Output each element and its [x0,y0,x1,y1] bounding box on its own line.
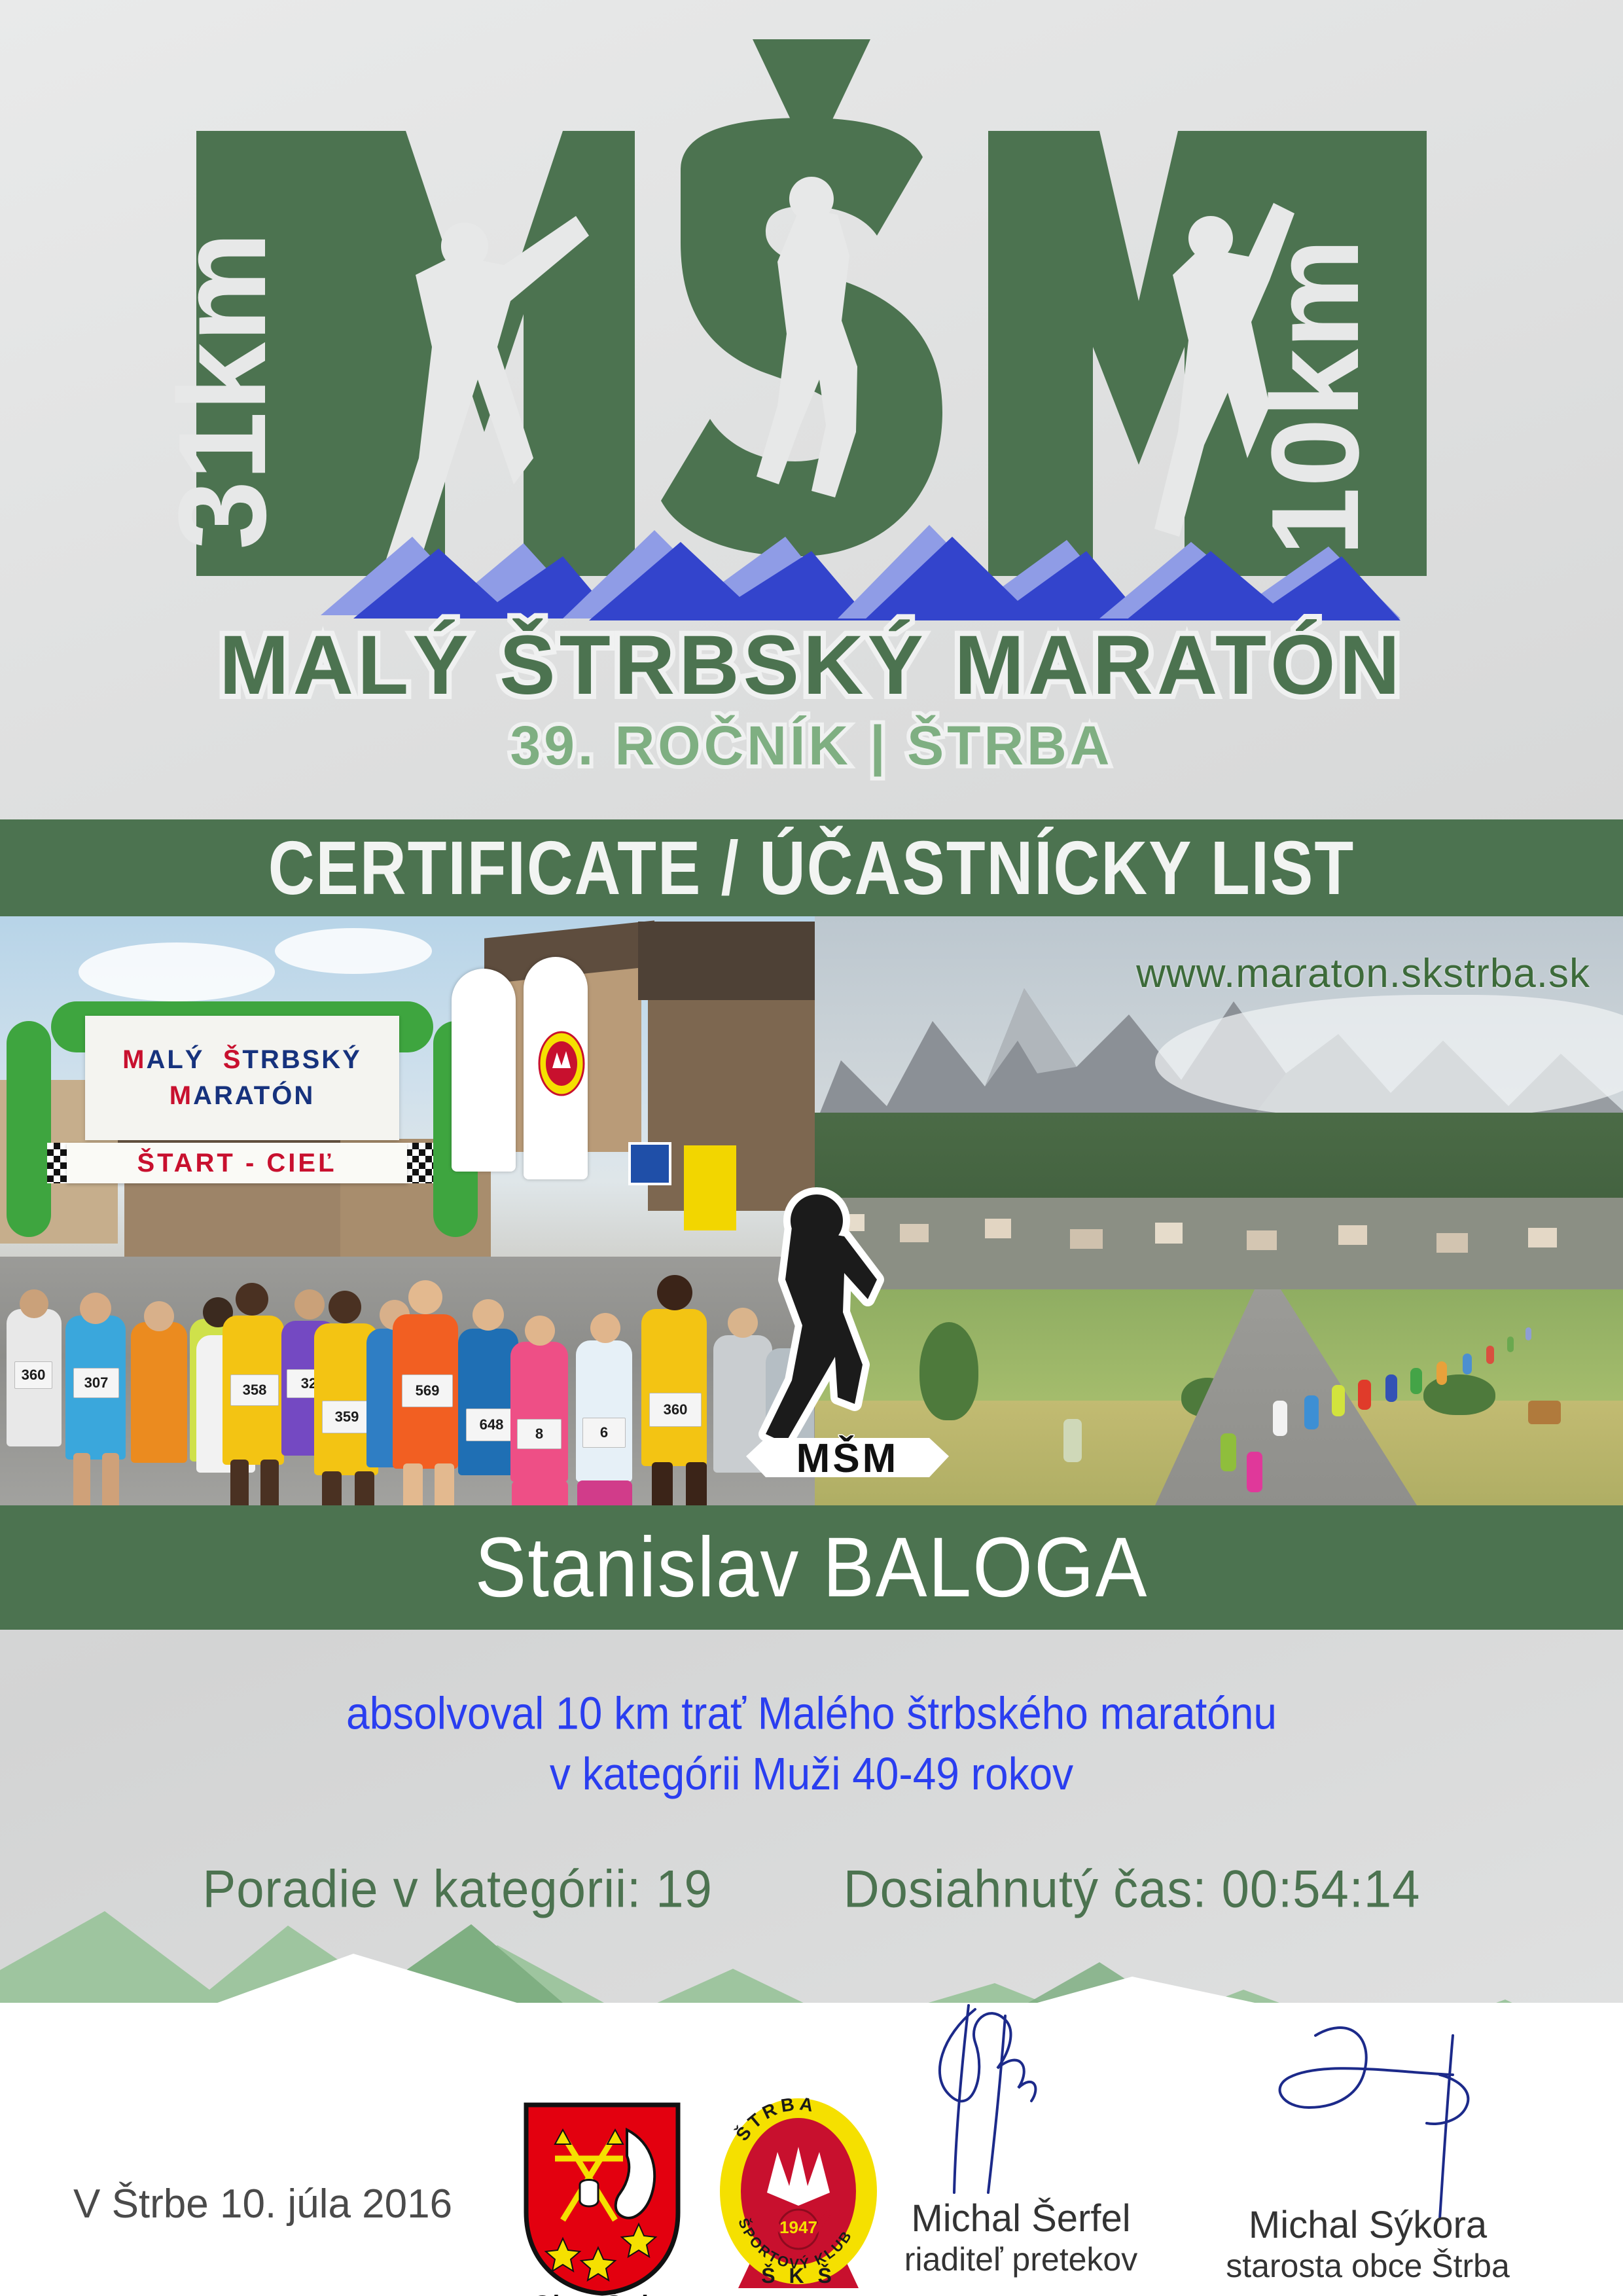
inflatable-start-arch: MALÝ ŠTRBSKÝ MARATÓN ŠTART - CIEĽ [7,1001,478,1237]
runner-bib: 360 [649,1393,702,1427]
runner-leg [73,1453,90,1505]
runner-leg [355,1471,374,1505]
arch-title-line-2: MARATÓN [169,1081,315,1111]
signatory-sykora: Michal Sýkora starosta obce Štrba [1198,2206,1538,2284]
certificate-title: CERTIFICATE / ÚČASTNÍCKY LIST [268,824,1355,911]
certificate-page: 31km 10km MALÝ ŠTRBSKÝ MARATÓN [0,0,1623,2296]
cloud-shape [275,928,432,974]
arch-banner-panel: MALÝ ŠTRBSKÝ MARATÓN [85,1016,399,1140]
runner-bib: 6 [582,1418,626,1448]
sks-flag-logo-icon [535,1028,588,1100]
participant-details: absolvoval 10 km trať Malého štrbského m… [0,1630,1623,1905]
signature-mark-sykora [1243,2009,1531,2232]
website-url[interactable]: www.maraton.skstrba.sk [1136,950,1590,997]
runner-on-course [1247,1452,1262,1492]
msm-runner-emblem-icon: MŠM [740,1181,955,1509]
runner-figure [131,1322,187,1463]
signatory-serfel: Michal Šerfel riaditeľ pretekov [851,2199,1191,2278]
runner-bib: 569 [402,1374,453,1407]
runner-on-course [1221,1433,1236,1471]
runner-head [20,1289,48,1318]
issue-date: V Štrbe 10. júla 2016 [73,2181,452,2227]
club-year: 1947 [779,2217,817,2237]
description-line-1: absolvoval 10 km trať Malého štrbského m… [346,1683,1277,1744]
signatory-name: Michal Sýkora [1198,2206,1538,2246]
runner-on-course [1463,1354,1472,1374]
runner-bib: 359 [322,1401,372,1433]
logo-event-subtitle: 39. ROČNÍK | ŠTRBA [510,715,1113,777]
town-house [1247,1230,1277,1250]
runner-on-course [1304,1395,1319,1429]
signature-mark-serfel [877,1996,1126,2212]
cow-figure [1528,1401,1561,1424]
participant-name: Stanislav BALOGA [475,1518,1149,1617]
description-line-2: v kategórii Muži 40-49 rokov [346,1744,1277,1804]
town-house [1070,1229,1103,1249]
certificate-title-banner: CERTIFICATE / ÚČASTNÍCKY LIST [0,819,1623,916]
runner-leg [230,1460,249,1505]
runner-figure [458,1329,518,1475]
runner-shorts [512,1480,568,1505]
club-bottom-text: Š K Š [761,2264,836,2287]
event-logo-block: 31km 10km MALÝ ŠTRBSKÝ MARATÓN [0,0,1623,785]
roof-shape [638,922,815,1000]
msm-emblem-text: MŠM [796,1436,899,1481]
town-house [1528,1228,1557,1247]
runner-head [144,1301,174,1331]
runner-bib: 358 [230,1374,279,1406]
msm-logo-svg: 31km 10km MALÝ ŠTRBSKÝ MARATÓN [157,39,1466,798]
runner-bib: 307 [73,1368,119,1398]
runner-bib: 648 [466,1408,517,1441]
runner-figure [576,1340,632,1482]
yellow-sign [684,1145,736,1230]
runner-head [236,1283,268,1316]
coat-of-arms-caption: Obec Štrba [494,2291,710,2296]
runner-on-course [1385,1374,1397,1402]
arch-leg-left [7,1021,51,1237]
runner-leg [403,1463,423,1505]
runner-head [408,1280,442,1314]
runner-on-course [1273,1401,1287,1436]
runner-head [294,1289,325,1319]
teardrop-flag-tatry [452,969,516,1172]
start-finish-text: ŠTART - CIEĽ [137,1149,336,1178]
town-house [1436,1233,1468,1253]
runner-head [657,1275,692,1310]
runner-head [525,1316,555,1346]
participant-description: absolvoval 10 km trať Malého štrbského m… [346,1683,1277,1805]
runner-leg [102,1453,119,1505]
runner-on-course [1507,1336,1514,1352]
signatory-role: starosta obce Štrba [1198,2248,1538,2284]
runner-head [329,1291,361,1323]
logo-left-distance: 31km [157,232,292,550]
cloud-shape [79,942,275,1001]
runner-leg [435,1463,454,1505]
pedestrian-crossing-sign [628,1142,671,1185]
town-house [1338,1225,1367,1245]
roadside-bush [1423,1374,1495,1415]
runner-head [80,1293,111,1324]
runner-leg [260,1460,279,1505]
runner-shorts [577,1480,632,1505]
signatory-name: Michal Šerfel [851,2199,1191,2239]
runner-on-course [1332,1385,1345,1416]
runner-on-course [1410,1368,1422,1394]
town-house [1155,1223,1183,1244]
runner-bib: 8 [517,1419,562,1449]
signatory-role: riaditeľ pretekov [851,2242,1191,2278]
runner-leg [652,1462,673,1505]
spectator-figure [1063,1419,1082,1462]
arch-title-line-1: MALÝ ŠTRBSKÝ [122,1045,362,1075]
runner-figure [510,1342,568,1482]
certificate-footer: V Štrbe 10. júla 2016 Obec Štrba [0,2003,1623,2296]
runner-bib: 360 [14,1361,52,1389]
runner-on-course [1525,1327,1531,1340]
runner-on-course [1358,1380,1371,1410]
runner-head [590,1313,620,1343]
runner-on-course [1436,1361,1447,1385]
obec-strba-coat-of-arms-icon [517,2101,687,2296]
runner-leg [686,1462,707,1505]
participant-name-banner: Stanislav BALOGA [0,1505,1623,1630]
runner-figure [641,1309,707,1466]
town-house [985,1219,1011,1238]
logo-event-title: MALÝ ŠTRBSKÝ MARATÓN [219,619,1404,712]
runner-head [473,1299,504,1331]
photo-start-line: MALÝ ŠTRBSKÝ MARATÓN ŠTART - CIEĽ [0,916,815,1505]
runner-leg [322,1471,342,1505]
runner-on-course [1486,1346,1494,1364]
start-finish-banner: ŠTART - CIEĽ [67,1143,407,1183]
